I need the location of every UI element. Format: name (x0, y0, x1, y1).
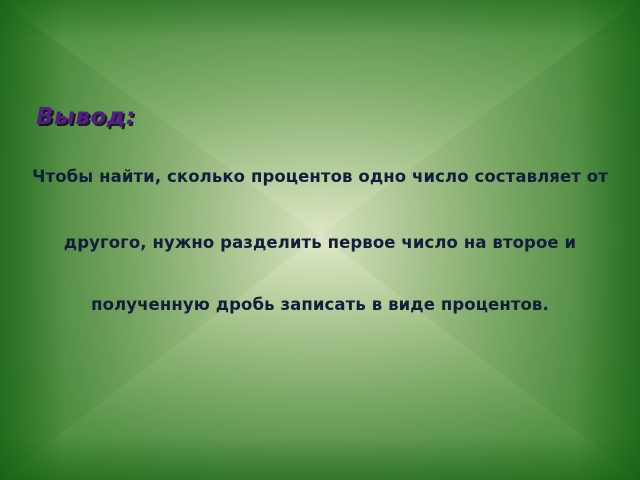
slide-content: Вывод: Чтобы найти, сколько процентов од… (0, 0, 640, 480)
slide-canvas: Вывод: Чтобы найти, сколько процентов од… (0, 0, 640, 480)
body-paragraph-1: Чтобы найти, сколько процентов одно числ… (26, 166, 614, 188)
body-paragraph-2: другого, нужно разделить первое число на… (26, 232, 614, 254)
slide-title: Вывод: (36, 104, 135, 130)
paragraph-spacer-1 (26, 188, 614, 232)
body-paragraph-3: полученную дробь записать в виде процент… (26, 294, 614, 316)
paragraph-spacer-2 (26, 254, 614, 294)
slide-body: Чтобы найти, сколько процентов одно числ… (26, 166, 614, 316)
